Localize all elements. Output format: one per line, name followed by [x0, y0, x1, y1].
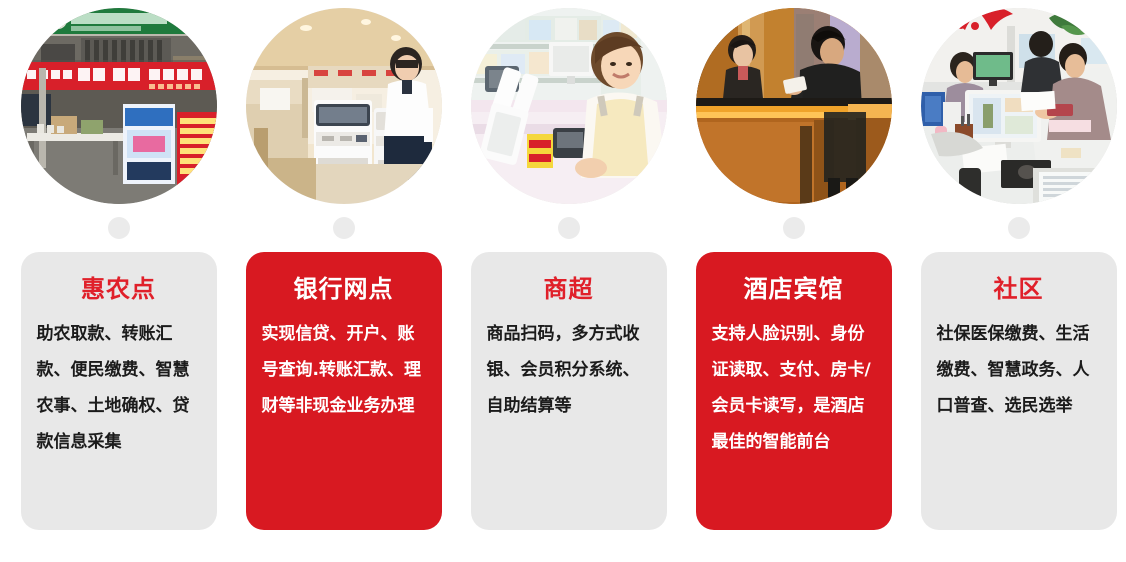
- photo-wrap-community: [921, 8, 1117, 204]
- photo-hotel: [696, 8, 892, 204]
- card-title: 惠农点: [35, 274, 203, 304]
- scenario-column-bank-branch: 银行网点 实现信贷、开户、账号查询.转账汇款、理财等非现金业务办理: [231, 0, 456, 562]
- photo-supermarket: [471, 8, 667, 204]
- connector-dot: [108, 217, 130, 239]
- card-body: 实现信贷、开户、账号查询.转账汇款、理财等非现金业务办理: [260, 316, 428, 424]
- connector-dot: [783, 217, 805, 239]
- card-body: 社保医保缴费、生活缴费、智慧政务、人口普查、选民选举: [935, 316, 1103, 424]
- card-title: 酒店宾馆: [710, 274, 878, 304]
- connector-dot: [333, 217, 355, 239]
- card-body: 支持人脸识别、身份证读取、支付、房卡/会员卡读写，是酒店最佳的智能前台: [710, 316, 878, 460]
- scenario-card-supermarket[interactable]: 商超 商品扫码，多方式收银、会员积分系统、自助结算等: [471, 252, 667, 530]
- photo-wrap-supermarket: [471, 8, 667, 204]
- connector-dot: [558, 217, 580, 239]
- card-title: 银行网点: [260, 274, 428, 304]
- photo-wrap-huinongdian: [21, 8, 217, 204]
- card-body: 助农取款、转账汇款、便民缴费、智慧农事、土地确权、贷款信息采集: [35, 316, 203, 460]
- scenario-card-hotel[interactable]: 酒店宾馆 支持人脸识别、身份证读取、支付、房卡/会员卡读写，是酒店最佳的智能前台: [696, 252, 892, 530]
- connector-dot: [1008, 217, 1030, 239]
- card-title: 社区: [935, 274, 1103, 304]
- photo-huinongdian: [21, 8, 217, 204]
- photo-wrap-bank-branch: [246, 8, 442, 204]
- scenario-columns: 惠农点 助农取款、转账汇款、便民缴费、智慧农事、土地确权、贷款信息采集: [0, 0, 1126, 562]
- scenario-card-huinongdian[interactable]: 惠农点 助农取款、转账汇款、便民缴费、智慧农事、土地确权、贷款信息采集: [21, 252, 217, 530]
- scenario-card-community[interactable]: 社区 社保医保缴费、生活缴费、智慧政务、人口普查、选民选举: [921, 252, 1117, 530]
- scenario-column-hotel: 酒店宾馆 支持人脸识别、身份证读取、支付、房卡/会员卡读写，是酒店最佳的智能前台: [681, 0, 906, 562]
- photo-bank-branch: [246, 8, 442, 204]
- card-body: 商品扫码，多方式收银、会员积分系统、自助结算等: [485, 316, 653, 424]
- card-title: 商超: [485, 274, 653, 304]
- scenario-column-supermarket: 商超 商品扫码，多方式收银、会员积分系统、自助结算等: [456, 0, 681, 562]
- scenario-card-bank-branch[interactable]: 银行网点 实现信贷、开户、账号查询.转账汇款、理财等非现金业务办理: [246, 252, 442, 530]
- photo-community: [921, 8, 1117, 204]
- scenario-column-community: 社区 社保医保缴费、生活缴费、智慧政务、人口普查、选民选举: [906, 0, 1126, 562]
- scenario-column-huinongdian: 惠农点 助农取款、转账汇款、便民缴费、智慧农事、土地确权、贷款信息采集: [6, 0, 231, 562]
- photo-wrap-hotel: [696, 8, 892, 204]
- scenarios-section: 惠农点 助农取款、转账汇款、便民缴费、智慧农事、土地确权、贷款信息采集: [0, 0, 1126, 562]
